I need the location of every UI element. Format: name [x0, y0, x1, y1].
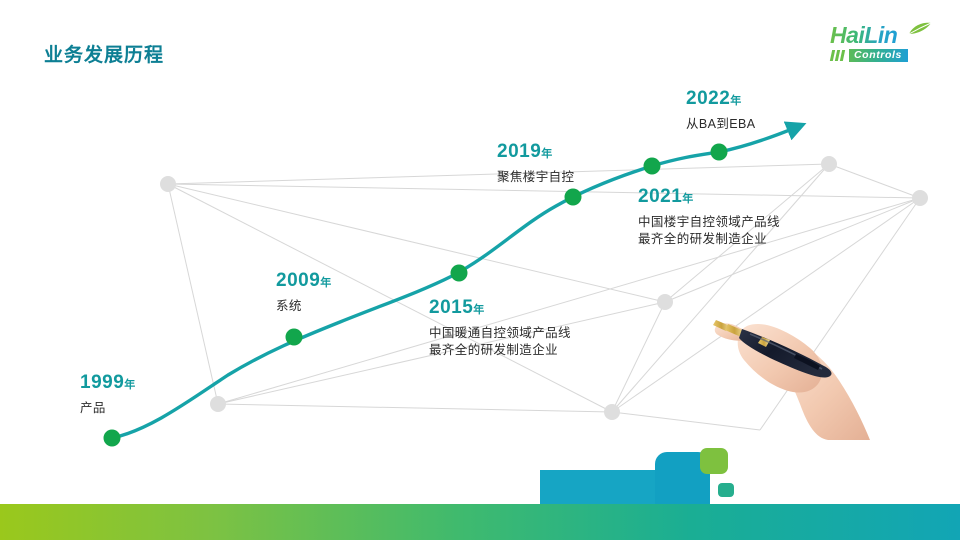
milestone-description: 中国暖通自控领域产品线 最齐全的研发制造企业 [429, 325, 571, 359]
milestone-description: 从BA到EBA [686, 116, 756, 133]
milestone-2022[interactable]: 2022年 从BA到EBA [686, 88, 756, 133]
deco-square-teal-small [718, 483, 734, 497]
logo-bars-icon [831, 50, 844, 61]
slide-canvas: 业务发展历程 HaiLin Controls 1999年 产品 2009年 系统… [0, 0, 960, 540]
milestone-year: 2019年 [497, 141, 574, 165]
milestone-year: 1999年 [80, 372, 135, 396]
milestone-description: 中国楼宇自控领域产品线 最齐全的研发制造企业 [638, 214, 780, 248]
milestone-2009[interactable]: 2009年 系统 [276, 270, 331, 315]
milestone-2015[interactable]: 2015年 中国暖通自控领域产品线 最齐全的研发制造企业 [429, 297, 571, 359]
page-title: 业务发展历程 [44, 40, 164, 67]
hailin-controls-logo: HaiLin Controls [830, 24, 942, 68]
milestone-description: 聚焦楼宇自控 [497, 169, 574, 186]
milestone-node-2015 [451, 265, 468, 282]
milestone-2019[interactable]: 2019年 聚焦楼宇自控 [497, 141, 574, 186]
leaf-icon [908, 22, 932, 36]
background-network-graphic [0, 0, 960, 540]
milestone-node-2022 [711, 144, 728, 161]
milestone-year: 2021年 [638, 186, 780, 210]
milestone-year: 2015年 [429, 297, 571, 321]
bottom-gradient-bar [0, 504, 960, 540]
milestone-1999[interactable]: 1999年 产品 [80, 372, 135, 417]
milestone-node-2009 [286, 329, 303, 346]
milestone-description: 产品 [80, 400, 135, 417]
deco-square-green [700, 448, 728, 474]
milestone-year: 2009年 [276, 270, 331, 294]
milestone-2021[interactable]: 2021年 中国楼宇自控领域产品线 最齐全的研发制造企业 [638, 186, 780, 248]
milestone-node-2019 [565, 189, 582, 206]
milestone-node-2021 [644, 158, 661, 175]
logo-wordmark: HaiLin [830, 24, 897, 47]
milestone-description: 系统 [276, 298, 331, 315]
logo-subtitle: Controls [849, 49, 908, 62]
milestone-node-1999 [104, 430, 121, 447]
milestone-year: 2022年 [686, 88, 756, 112]
